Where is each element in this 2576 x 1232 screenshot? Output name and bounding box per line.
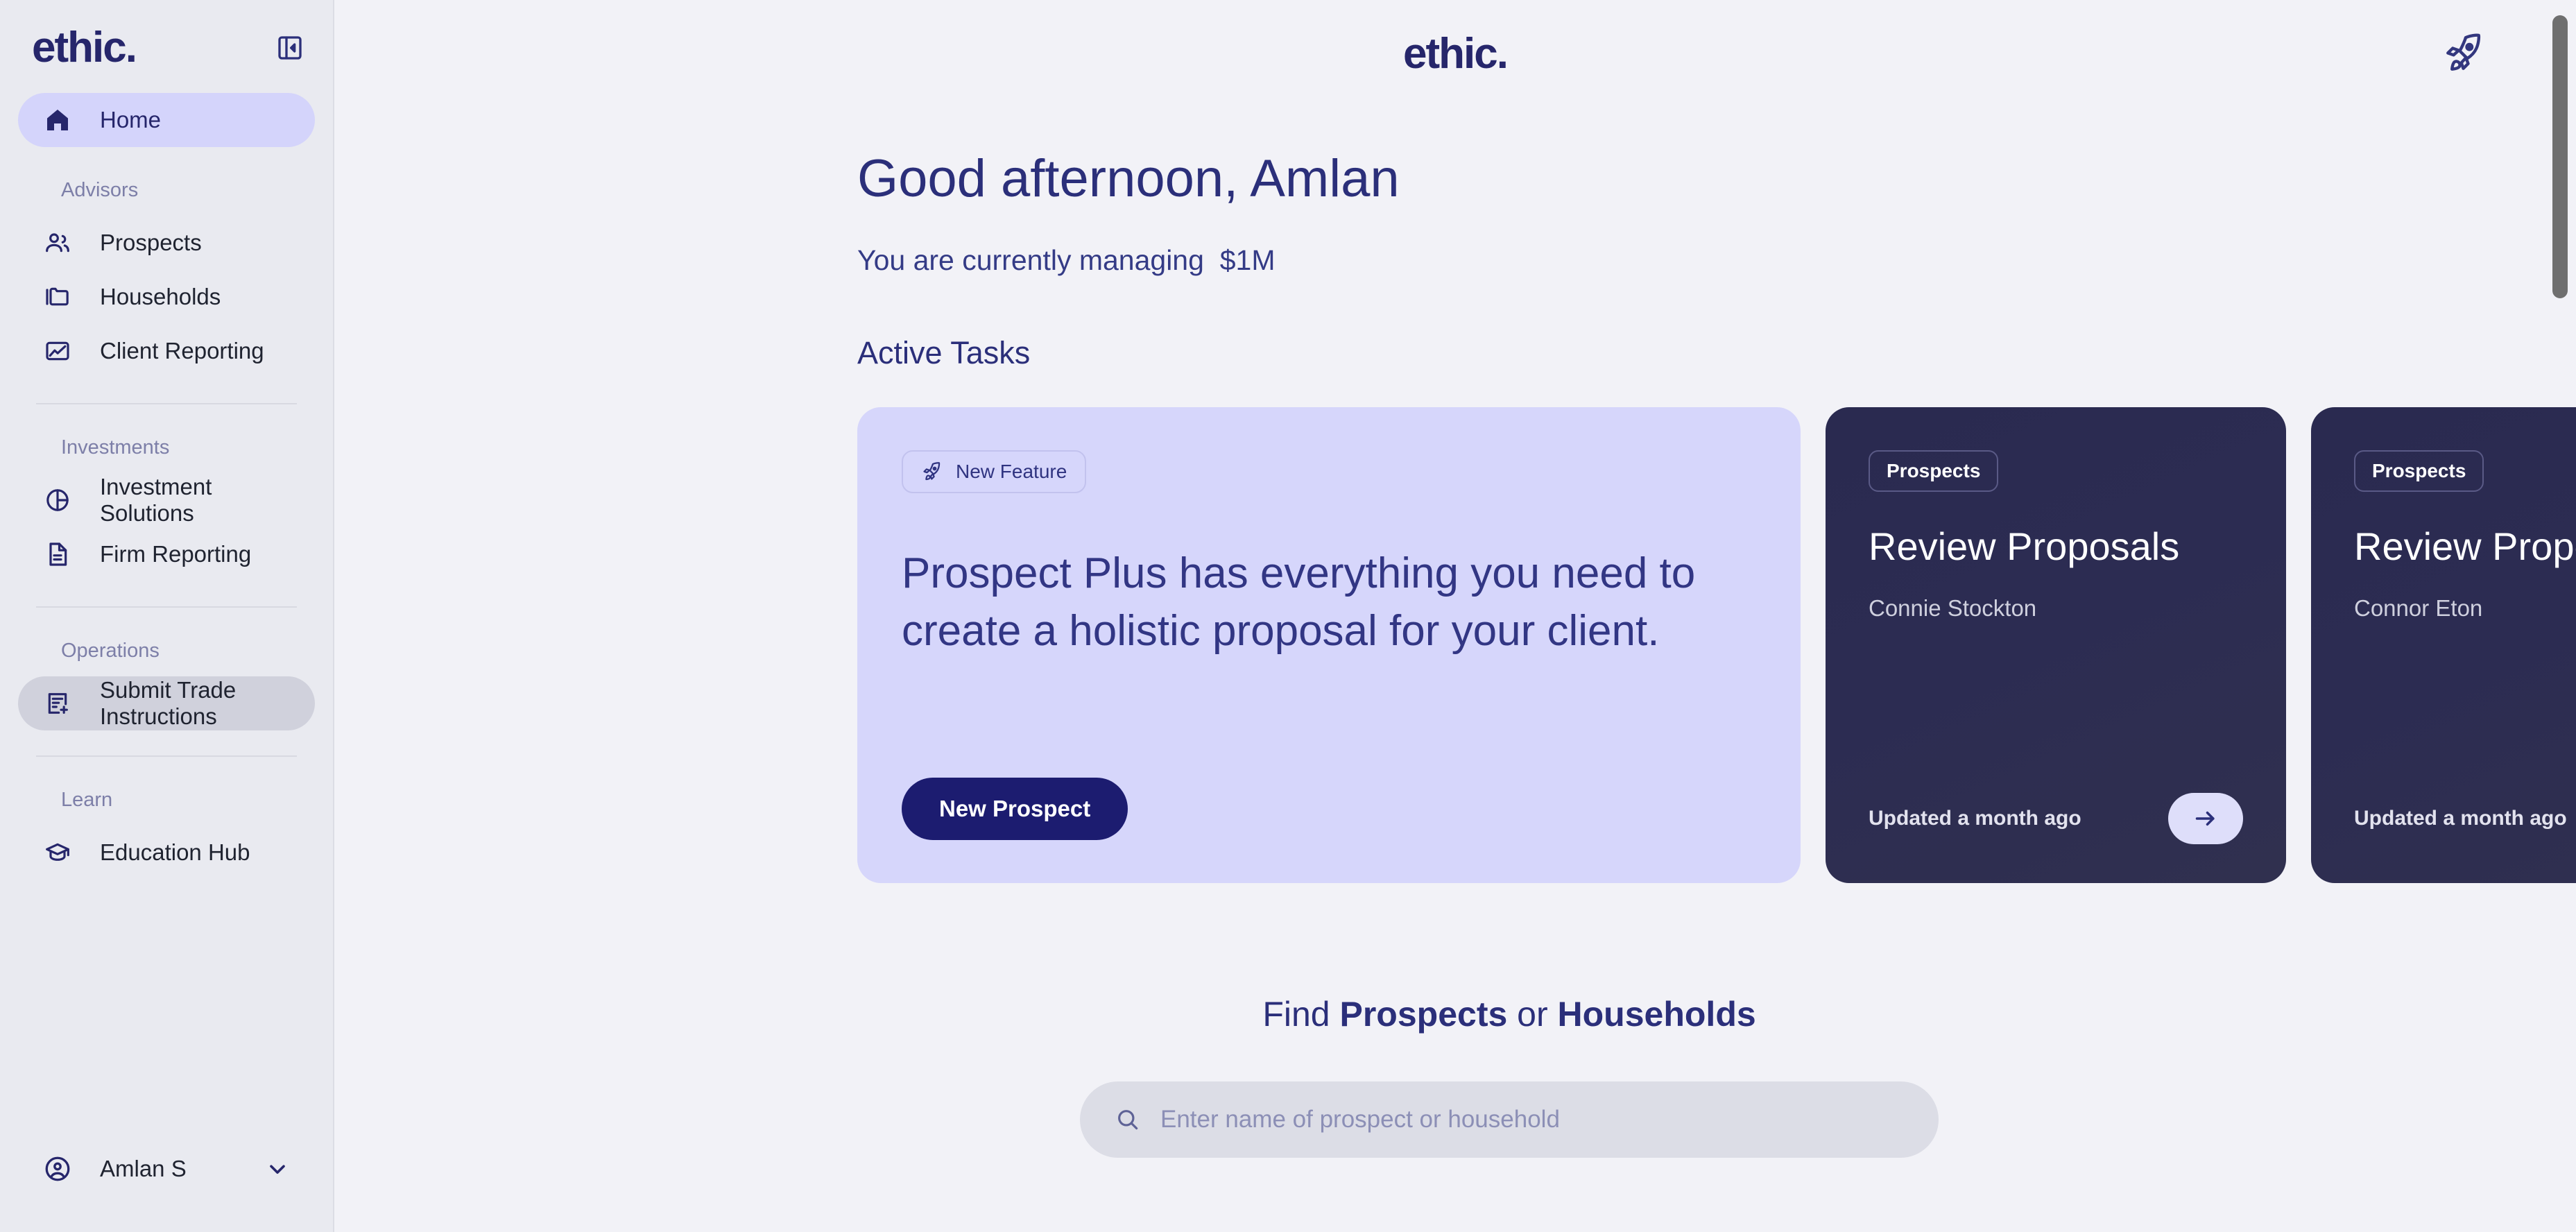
arrow-right-icon (2192, 805, 2219, 832)
sidebar-divider (36, 403, 297, 404)
panel-collapse-icon[interactable] (275, 33, 305, 63)
top-bar: ethic. (334, 0, 2576, 108)
page-title: Good afternoon, Amlan (857, 150, 2576, 208)
users-icon (43, 228, 72, 257)
sidebar-user-menu[interactable]: Amlan S (18, 1142, 315, 1196)
task-title: Review Proposals (1869, 525, 2243, 568)
find-title: Find Prospects or Households (857, 994, 2161, 1034)
task-card[interactable]: Prospects Review Proposals Connie Stockt… (1826, 407, 2286, 883)
sidebar-item-firm-reporting[interactable]: Firm Reporting (18, 527, 315, 581)
sidebar-logo: ethic. (32, 26, 136, 69)
sidebar-group-label-learn: Learn (18, 789, 315, 812)
sidebar-header: ethic. (0, 0, 333, 69)
content-body: Good afternoon, Amlan You are currently … (334, 150, 2576, 1158)
rocket-icon (921, 461, 942, 482)
rocket-icon[interactable] (2441, 32, 2484, 75)
new-feature-badge: New Feature (902, 450, 1086, 493)
search-icon (1115, 1106, 1141, 1133)
task-updated-label: Updated a month ago (2354, 807, 2567, 830)
user-circle-icon (43, 1154, 72, 1183)
image-chart-icon (43, 336, 72, 366)
find-title-middle: or (1507, 995, 1557, 1034)
graduation-cap-icon (43, 838, 72, 867)
task-updated-label: Updated a month ago (1869, 807, 2081, 830)
managing-summary: You are currently managing $1M (857, 244, 2576, 277)
form-add-icon (43, 689, 72, 718)
task-card[interactable]: Prospects Review Proposals Connor Eton U… (2311, 407, 2576, 883)
find-section: Find Prospects or Households (857, 994, 2161, 1158)
new-feature-badge-label: New Feature (956, 461, 1067, 483)
scrollbar-track[interactable] (2545, 0, 2576, 1232)
find-title-households: Households (1558, 995, 1756, 1034)
feature-card: New Feature Prospect Plus has everything… (857, 407, 1801, 883)
pie-chart-icon (43, 486, 72, 515)
sidebar-item-education-hub[interactable]: Education Hub (18, 825, 315, 880)
find-title-prefix: Find (1262, 995, 1339, 1034)
section-title-active-tasks: Active Tasks (857, 335, 2576, 371)
sidebar-item-prospects[interactable]: Prospects (18, 216, 315, 270)
sidebar-group-label-investments: Investments (18, 436, 315, 459)
sidebar-group-label-advisors: Advisors (18, 179, 315, 202)
feature-headline: Prospect Plus has everything you need to… (902, 545, 1756, 660)
find-title-prospects: Prospects (1340, 995, 1508, 1034)
sidebar-group-label-operations: Operations (18, 640, 315, 662)
folders-icon (43, 282, 72, 311)
sidebar-user-name: Amlan S (100, 1156, 187, 1182)
sidebar-item-label: Firm Reporting (100, 541, 251, 567)
main-content: ethic. Good afternoon, Amlan You are cur… (334, 0, 2576, 1232)
sidebar-divider (36, 606, 297, 608)
scrollbar-thumb[interactable] (2552, 15, 2568, 298)
sidebar-nav: Home Advisors Prospects (0, 93, 333, 880)
sidebar-item-label: Home (100, 107, 161, 133)
task-person: Connor Eton (2354, 595, 2576, 622)
managing-value: $1M (1220, 244, 1276, 276)
sidebar-item-households[interactable]: Households (18, 270, 315, 324)
new-prospect-button[interactable]: New Prospect (902, 778, 1128, 840)
sidebar-item-label: Client Reporting (100, 338, 264, 364)
sidebar-item-label: Prospects (100, 230, 202, 256)
sidebar-item-client-reporting[interactable]: Client Reporting (18, 324, 315, 378)
search-box[interactable] (1080, 1081, 1939, 1158)
sidebar-footer: Amlan S (0, 1142, 333, 1232)
active-tasks-carousel: New Feature Prospect Plus has everything… (857, 407, 2576, 883)
sidebar-item-label: Households (100, 284, 221, 310)
sidebar-item-submit-trade-instructions[interactable]: Submit Trade Instructions (18, 676, 315, 730)
home-icon (43, 105, 72, 135)
sidebar-item-label: Submit Trade Instructions (100, 677, 290, 730)
task-open-button[interactable] (2168, 793, 2243, 844)
header-logo: ethic. (1403, 33, 1507, 76)
task-footer: Updated a month ago (1869, 793, 2243, 844)
task-person: Connie Stockton (1869, 595, 2243, 622)
sidebar-item-label: Education Hub (100, 839, 250, 866)
task-title: Review Proposals (2354, 525, 2576, 568)
task-tag-badge: Prospects (2354, 450, 2484, 492)
app-root: ethic. Home Advisors (0, 0, 2576, 1232)
search-input[interactable] (1160, 1106, 1904, 1133)
sidebar-item-home[interactable]: Home (18, 93, 315, 147)
sidebar-item-label: Investment Solutions (100, 474, 290, 527)
task-tag-badge: Prospects (1869, 450, 1998, 492)
document-icon (43, 540, 72, 569)
chevron-down-icon[interactable] (265, 1156, 290, 1181)
managing-label: You are currently managing (857, 244, 1204, 276)
sidebar-divider (36, 755, 297, 757)
sidebar: ethic. Home Advisors (0, 0, 334, 1232)
task-footer: Updated a month ago (2354, 793, 2576, 844)
sidebar-item-investment-solutions[interactable]: Investment Solutions (18, 473, 315, 527)
